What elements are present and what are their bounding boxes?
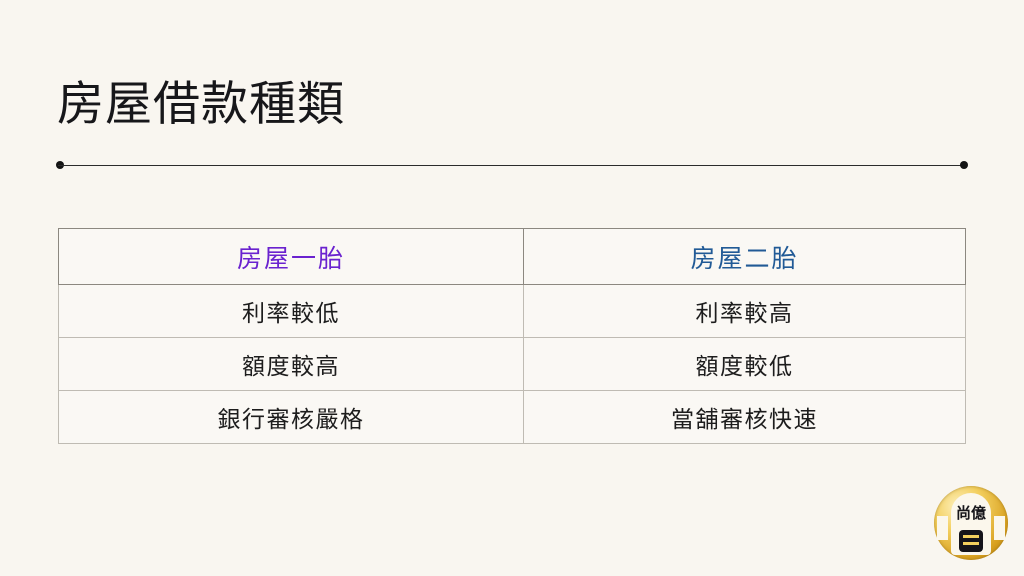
page-title: 房屋借款種類 <box>57 74 345 134</box>
divider-rule <box>58 165 966 167</box>
divider-dot-right-icon <box>960 161 968 169</box>
loan-comparison-table: 房屋一胎 房屋二胎 利率較低 利率較高 額度較高 額度較低 銀行審核嚴格 當舖審… <box>58 228 966 444</box>
table-header-row: 房屋一胎 房屋二胎 <box>59 229 966 285</box>
table-cell: 額度較低 <box>524 338 966 391</box>
logo-text: 尚億 <box>934 506 1008 521</box>
table-row: 利率較低 利率較高 <box>59 285 966 338</box>
logo-seal-icon <box>959 530 983 552</box>
table-cell: 利率較低 <box>59 285 524 338</box>
table-header-cell-second-mortgage: 房屋二胎 <box>524 229 966 285</box>
slide-canvas: 房屋借款種類 房屋一胎 房屋二胎 利率較低 利率較高 額度較高 額度較低 <box>0 0 1024 576</box>
table-cell: 銀行審核嚴格 <box>59 391 524 444</box>
table-cell: 當舖審核快速 <box>524 391 966 444</box>
table-cell: 利率較高 <box>524 285 966 338</box>
table-cell: 額度較高 <box>59 338 524 391</box>
table-row: 銀行審核嚴格 當舖審核快速 <box>59 391 966 444</box>
table-header-cell-first-mortgage: 房屋一胎 <box>59 229 524 285</box>
table-row: 額度較高 額度較低 <box>59 338 966 391</box>
table-body: 利率較低 利率較高 額度較高 額度較低 銀行審核嚴格 當舖審核快速 <box>59 285 966 444</box>
title-divider <box>58 161 966 170</box>
brand-logo: 尚億 <box>934 486 1008 560</box>
table-header: 房屋一胎 房屋二胎 <box>59 229 966 285</box>
